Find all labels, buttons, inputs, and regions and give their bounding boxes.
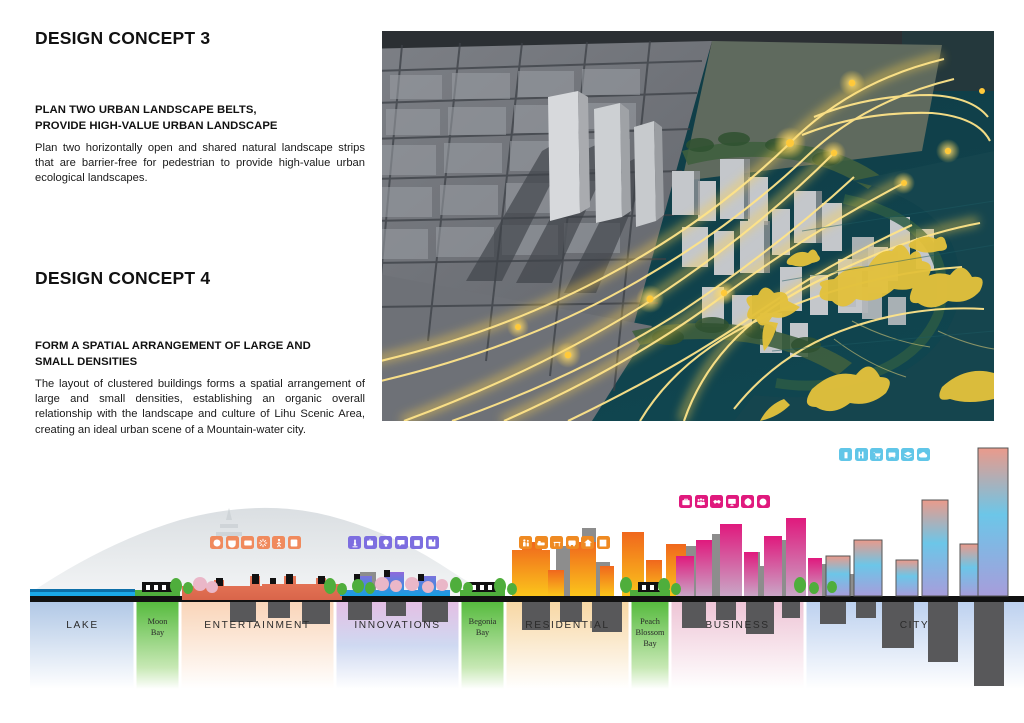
lightbulb-icon[interactable] — [379, 536, 392, 549]
bed-icon[interactable] — [535, 536, 548, 549]
zone-label-lake: LAKE — [30, 620, 135, 631]
briefcase-icon[interactable] — [679, 495, 692, 508]
concept-3-subhead-line-2: PROVIDE HIGH-VALUE URBAN LANDSCAPE — [35, 119, 365, 135]
clock-icon[interactable] — [757, 495, 770, 508]
chip-icon[interactable] — [410, 536, 423, 549]
concept-3-subhead: PLAN TWO URBAN LANDSCAPE BELTS, PROVIDE … — [35, 103, 365, 134]
spacer — [35, 289, 365, 339]
idea-bubble-icon[interactable] — [395, 536, 408, 549]
ticket-icon[interactable] — [288, 536, 301, 549]
hotel-icon[interactable] — [855, 448, 868, 461]
tower-icon[interactable] — [839, 448, 852, 461]
concept-3-block: DESIGN CONCEPT 3 PLAN TWO URBAN LANDSCAP… — [35, 28, 365, 187]
globe-icon[interactable] — [741, 495, 754, 508]
zone-label-city: CITY — [805, 620, 1024, 631]
concept-3-subhead-line-1: PLAN TWO URBAN LANDSCAPE BELTS, — [35, 103, 365, 119]
zone-label-innovations: INNOVATIONS — [335, 620, 460, 631]
house-icon[interactable] — [581, 536, 594, 549]
icon-group-residential — [519, 536, 610, 549]
zone-label-peach-blossom-bay: PeachBlossomBay — [630, 616, 670, 649]
slide-root: DESIGN CONCEPT 3 PLAN TWO URBAN LANDSCAP… — [0, 0, 1024, 723]
fireworks-icon[interactable] — [257, 536, 270, 549]
zone-label-entertainment: ENTERTAINMENT — [180, 620, 335, 631]
concept-4-block: DESIGN CONCEPT 4 FORM A SPATIAL ARRANGEM… — [35, 268, 365, 438]
theater-mask-icon[interactable] — [226, 536, 239, 549]
concept-3-body: Plan two horizontally open and shared na… — [35, 141, 365, 187]
icon-group-business — [679, 495, 770, 508]
puzzle-icon[interactable] — [426, 536, 439, 549]
zone-label-moon-bay: MoonBay — [135, 616, 180, 638]
park-bench-icon[interactable] — [550, 536, 563, 549]
ground-line — [30, 596, 1024, 602]
school-bus-icon[interactable] — [566, 536, 579, 549]
concept-4-title: DESIGN CONCEPT 4 — [35, 268, 365, 289]
concept-4-subhead-line-1: FORM A SPATIAL ARRANGEMENT OF LARGE AND — [35, 339, 365, 355]
concept-4-subhead: FORM A SPATIAL ARRANGEMENT OF LARGE AND … — [35, 339, 365, 370]
conference-icon[interactable] — [695, 495, 708, 508]
layers-icon[interactable] — [901, 448, 914, 461]
aerial-render-image — [382, 31, 994, 421]
robot-icon[interactable] — [364, 536, 377, 549]
zone-label-residential: RESIDENTIAL — [505, 620, 630, 631]
microscope-icon[interactable] — [348, 536, 361, 549]
handshake-icon[interactable] — [710, 495, 723, 508]
zone-label-begonia-bay: BegoniaBay — [460, 616, 505, 638]
family-icon[interactable] — [519, 536, 532, 549]
icon-group-innovations — [348, 536, 439, 549]
icon-group-entertainment — [210, 536, 301, 549]
shopping-cart-icon[interactable] — [870, 448, 883, 461]
city-towers — [826, 448, 1008, 596]
zone-label-business: BUSINESS — [670, 620, 805, 631]
transit-icon[interactable] — [886, 448, 899, 461]
cloud-icon[interactable] — [917, 448, 930, 461]
dancer-icon[interactable] — [272, 536, 285, 549]
ferris-wheel-icon[interactable] — [210, 536, 223, 549]
cinema-icon[interactable] — [241, 536, 254, 549]
urban-section-diagram — [30, 424, 1024, 689]
icon-group-city — [839, 448, 930, 461]
apartment-icon[interactable] — [597, 536, 610, 549]
concept-3-title: DESIGN CONCEPT 3 — [35, 28, 365, 49]
presentation-icon[interactable] — [726, 495, 739, 508]
spacer — [35, 49, 365, 103]
concept-4-subhead-line-2: SMALL DENSITIES — [35, 355, 365, 371]
